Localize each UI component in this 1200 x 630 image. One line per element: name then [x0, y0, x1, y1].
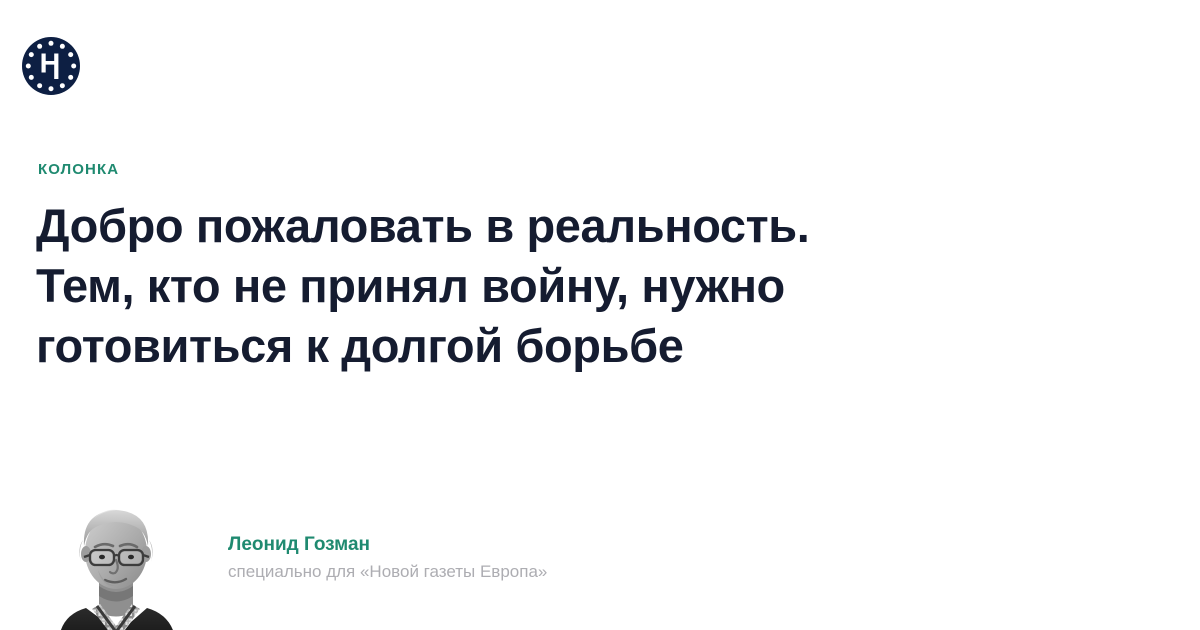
- share-card: КОЛОНКА Добро пожаловать в реальность. Т…: [0, 0, 1200, 630]
- author-role: специально для «Новой газеты Европа»: [228, 560, 728, 583]
- headline-line-1: Добро пожаловать в реальность.: [36, 196, 996, 256]
- page-title: Добро пожаловать в реальность. Тем, кто …: [36, 196, 996, 376]
- novaya-gazeta-europe-logo-icon: [20, 35, 82, 97]
- headline-line-2: Тем, кто не принял войну, нужно: [36, 256, 996, 316]
- author-block: Леонид Гозман специально для «Новой газе…: [42, 490, 742, 630]
- article-kicker[interactable]: КОЛОНКА: [38, 160, 119, 180]
- author-text: Леонид Гозман специально для «Новой газе…: [228, 532, 728, 583]
- author-name[interactable]: Леонид Гозман: [228, 532, 728, 557]
- headline-line-3: готовиться к долгой борьбе: [36, 316, 996, 376]
- author-portrait-image: [42, 490, 190, 630]
- site-logo[interactable]: [20, 35, 82, 97]
- avatar: [42, 490, 190, 630]
